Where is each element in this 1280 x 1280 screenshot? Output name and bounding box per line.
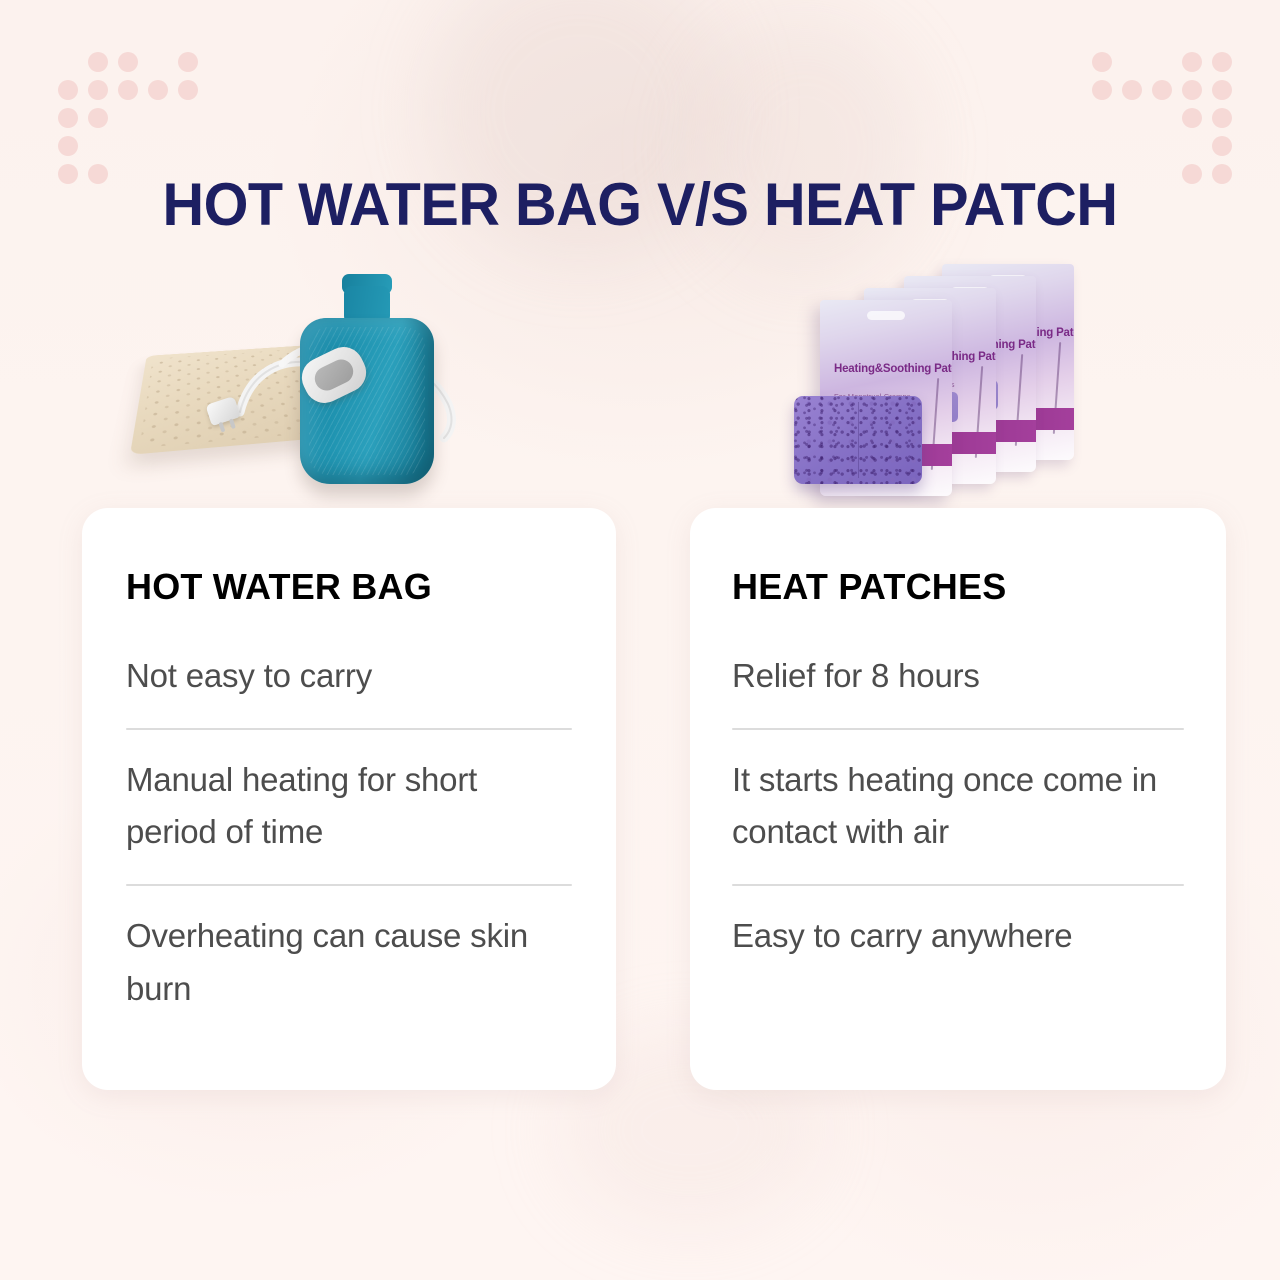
- hot-water-bag-product-image: [132, 252, 484, 502]
- list-divider: [126, 884, 572, 886]
- list-divider: [732, 884, 1184, 886]
- comparison-card-heat-patches: HEAT PATCHES Relief for 8 hours It start…: [690, 508, 1226, 1090]
- list-divider: [732, 728, 1184, 730]
- infographic-canvas: HOT WATER BAG V/S HEAT PATCH Heating&Soo…: [0, 0, 1280, 1280]
- card-item-list: Not easy to carry Manual heating for sho…: [126, 650, 572, 1015]
- background-blob: [690, 20, 920, 280]
- card-heading: HEAT PATCHES: [732, 566, 1006, 608]
- comparison-card-hot-water-bag: HOT WATER BAG Not easy to carry Manual h…: [82, 508, 616, 1090]
- list-item: It starts heating once come in contact w…: [732, 754, 1184, 858]
- list-item: Overheating can cause skin burn: [126, 910, 572, 1014]
- card-item-list: Relief for 8 hours It starts heating onc…: [732, 650, 1184, 963]
- list-divider: [126, 728, 572, 730]
- list-item: Relief for 8 hours: [732, 650, 1184, 702]
- heat-patch-icon: [794, 396, 922, 484]
- card-heading: HOT WATER BAG: [126, 566, 432, 608]
- list-item: Manual heating for short period of time: [126, 754, 572, 858]
- list-item: Easy to carry anywhere: [732, 910, 1184, 962]
- heat-patch-product-image: Heating&Soothing Patch For Menstrual Cra…: [792, 258, 1092, 498]
- list-item: Not easy to carry: [126, 650, 572, 702]
- pack-title: Heating&Soothing Patch: [834, 362, 952, 376]
- page-title: HOT WATER BAG V/S HEAT PATCH: [26, 170, 1255, 239]
